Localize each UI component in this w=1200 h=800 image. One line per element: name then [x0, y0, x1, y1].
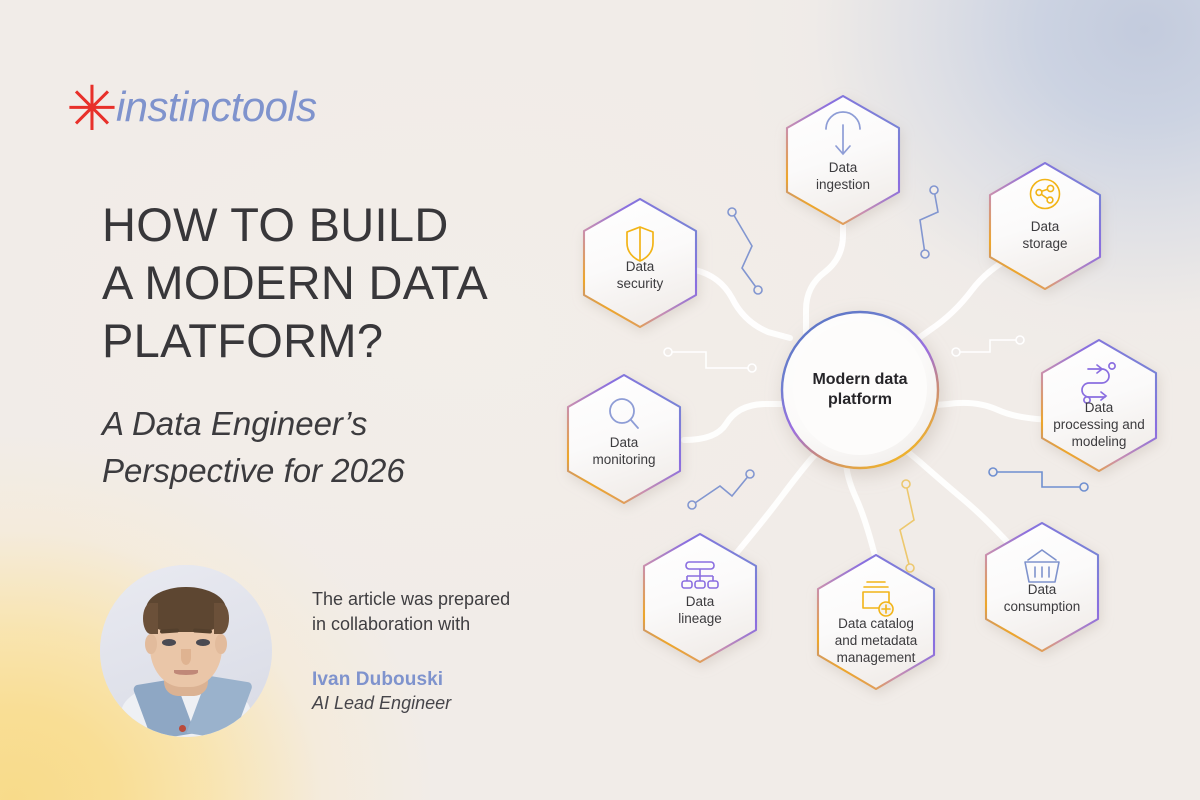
svg-text:modeling: modeling	[1072, 434, 1127, 449]
author-name: Ivan Dubouski	[312, 669, 542, 691]
headline-line-2: A MODERN DATA	[102, 256, 488, 309]
subtitle-line-1: A Data Engineer’s	[102, 405, 367, 442]
headline-line-3: PLATFORM?	[102, 314, 383, 367]
hub-label-line-2: platform	[828, 391, 892, 408]
brand-name: instinctools	[116, 83, 317, 131]
node-label-data-storage: Data	[1031, 219, 1060, 234]
collaboration-note: The article was prepared in collaboratio…	[312, 587, 542, 637]
asterisk-icon: ✳	[66, 89, 118, 129]
node-label-data-consumption: Data	[1028, 582, 1057, 597]
deco-poly-1	[728, 208, 762, 294]
svg-text:consumption: consumption	[1004, 599, 1081, 614]
deco-poly-7	[952, 336, 1024, 356]
left-content-column: ✳ instinctools HOW TO BUILD A MODERN DAT…	[0, 0, 575, 800]
node-label-data-security: Data	[626, 259, 655, 274]
avatar	[100, 565, 272, 737]
connector-consumption	[908, 452, 1020, 556]
node-label-data-lineage: Data	[686, 594, 715, 609]
node-label-data-ingestion: Data	[829, 160, 858, 175]
deco-poly-6	[989, 468, 1088, 491]
deco-poly-3	[664, 348, 756, 372]
hub-label-line-1: Modern data	[812, 371, 907, 388]
page-title: HOW TO BUILD A MODERN DATA PLATFORM?	[102, 196, 572, 370]
connector-security	[695, 270, 790, 338]
collaboration-note-line-1: The article was prepared	[312, 589, 510, 609]
deco-poly-4	[688, 470, 754, 509]
connector-monitoring	[684, 404, 794, 440]
author-block: The article was prepared in collaboratio…	[100, 565, 542, 737]
svg-text:processing and: processing and	[1053, 417, 1145, 432]
svg-text:security: security	[617, 276, 664, 291]
node-label-data-monitoring: Data	[610, 435, 639, 450]
headline-line-1: HOW TO BUILD	[102, 198, 449, 251]
node-label-data-processing: Data	[1085, 400, 1114, 415]
deco-poly-5	[900, 480, 914, 572]
author-text-block: The article was prepared in collaboratio…	[312, 565, 542, 714]
connector-lineage	[734, 450, 820, 556]
modern-data-platform-diagram: Data ingestion Data storage Data process…	[520, 0, 1200, 800]
node-label-data-catalog: Data catalog	[838, 616, 914, 631]
svg-text:ingestion: ingestion	[816, 177, 870, 192]
brand-logo[interactable]: ✳ instinctools	[66, 83, 317, 131]
hub-modern-data-platform[interactable]	[782, 312, 938, 468]
author-role: AI Lead Engineer	[312, 693, 542, 714]
page-subtitle: A Data Engineer’s Perspective for 2026	[102, 400, 522, 494]
svg-text:lineage: lineage	[678, 611, 722, 626]
svg-text:monitoring: monitoring	[592, 452, 655, 467]
svg-text:and metadata: and metadata	[835, 633, 918, 648]
subtitle-line-2: Perspective for 2026	[102, 452, 405, 489]
deco-poly-2	[920, 186, 938, 258]
collaboration-note-line-2: in collaboration with	[312, 614, 470, 634]
svg-text:management: management	[837, 650, 916, 665]
svg-text:storage: storage	[1022, 236, 1067, 251]
